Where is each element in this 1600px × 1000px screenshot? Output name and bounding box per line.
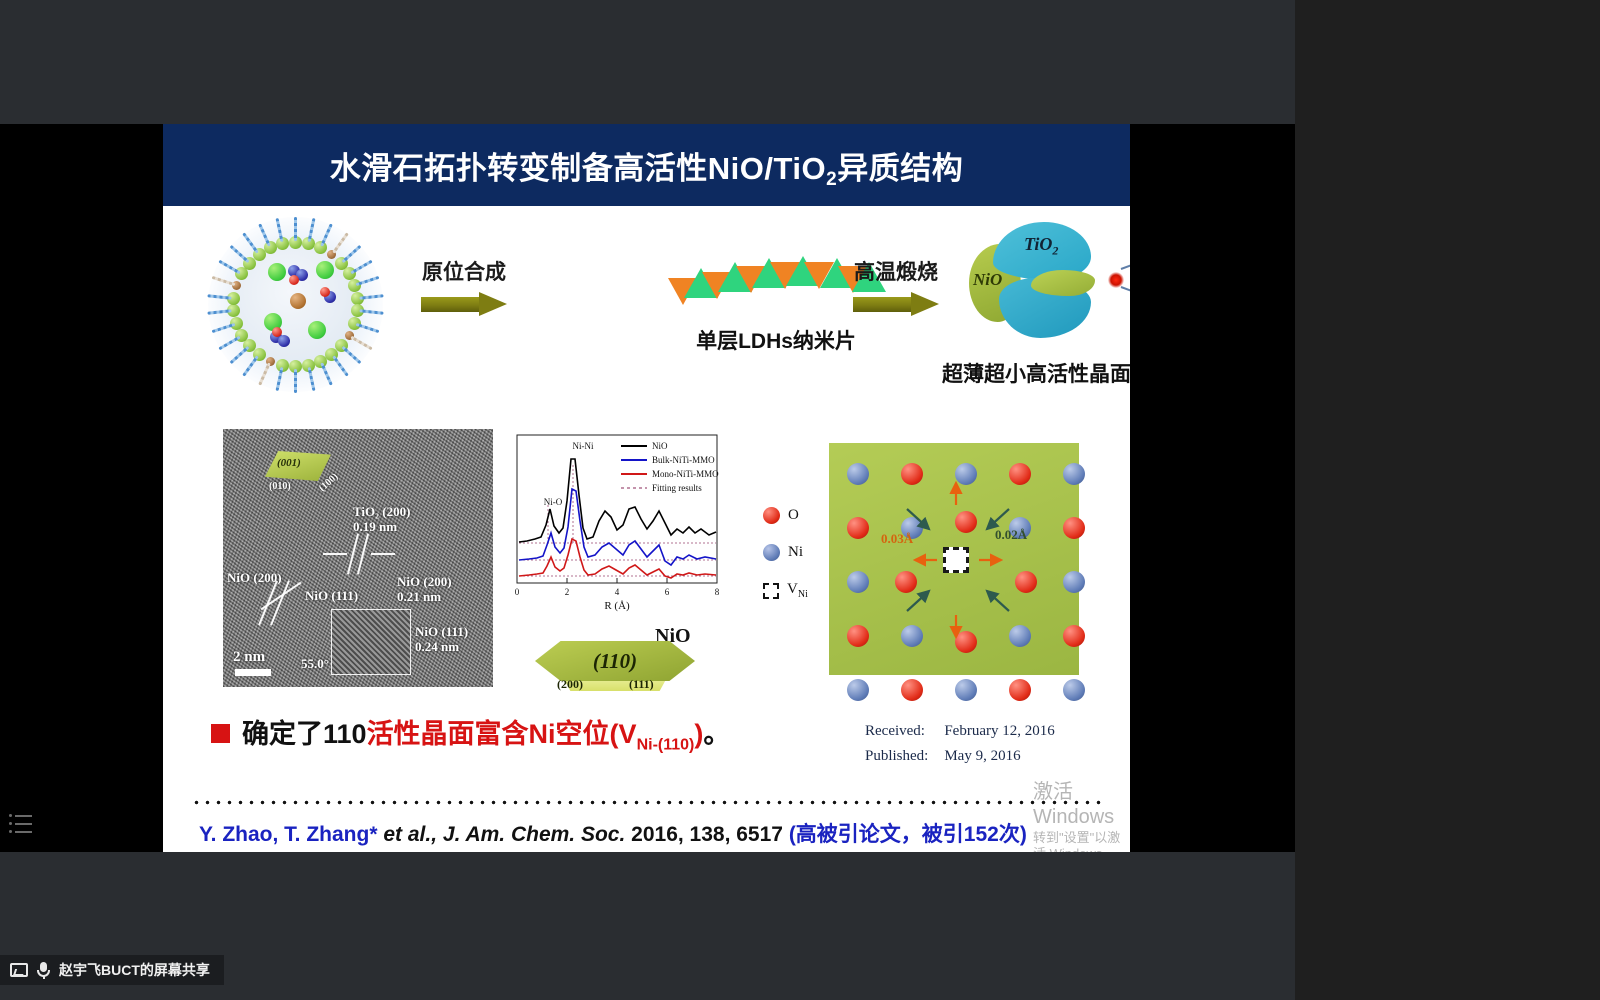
nio-label: NiO bbox=[973, 270, 1002, 290]
mic-icon bbox=[36, 961, 51, 979]
svg-text:Bulk-NiTi-MMO: Bulk-NiTi-MMO bbox=[652, 455, 715, 465]
watermark-line1: 激活 Windows bbox=[1033, 780, 1130, 830]
svg-text:NiO: NiO bbox=[652, 441, 668, 451]
fft-inset bbox=[331, 609, 411, 675]
ni-atom bbox=[847, 679, 869, 701]
ion-brown bbox=[290, 293, 306, 309]
ion-red bbox=[289, 275, 299, 285]
screen-share-icon bbox=[10, 963, 28, 977]
svg-text:Mono-NiTi-MMO: Mono-NiTi-MMO bbox=[652, 469, 719, 479]
presentation-slide: 水滑石拓扑转变制备高活性NiO/TiO2异质结构 bbox=[163, 124, 1130, 852]
participants-list-icon[interactable] bbox=[8, 810, 34, 836]
citation-line: Y. Zhao, T. Zhang* et al., J. Am. Chem. … bbox=[199, 818, 1027, 848]
windows-activation-watermark: 激活 Windows 转到"设置"以激活 Windows。 bbox=[1033, 780, 1130, 852]
svg-text:2: 2 bbox=[565, 587, 570, 597]
arrow-in-situ-synthesis: 原位合成 bbox=[421, 256, 507, 316]
surfactant-tail bbox=[294, 217, 297, 241]
arrow-high-temp-calcination: 高温煅烧 bbox=[853, 256, 939, 316]
ldh-nanosheet bbox=[668, 252, 883, 312]
page-title: 水滑石拓扑转变制备高活性NiO/TiO2异质结构 bbox=[330, 143, 963, 188]
nio-hexagon: (110) (200) (111) bbox=[535, 641, 695, 693]
tem-label-nio111-right: NiO (111)0.24 nm bbox=[415, 625, 468, 655]
scalebar bbox=[235, 669, 271, 676]
vacancy-square-icon bbox=[763, 583, 779, 599]
arrow2-label: 高温煅烧 bbox=[853, 256, 939, 286]
hrtem-image: (001) (010) (100) TiO₂ (200)0.19 nm NiO … bbox=[223, 429, 493, 687]
svg-text:Fitting results: Fitting results bbox=[652, 483, 702, 493]
tem-label-nio200-right: NiO (200)0.21 nm bbox=[397, 575, 452, 605]
received-published-block: Received:February 12, 2016 Published:May… bbox=[863, 718, 1071, 769]
dotted-divider bbox=[191, 800, 1101, 805]
bullet-square-icon bbox=[211, 724, 230, 743]
catalyst-caption: 超薄超小高活性晶面催化剂 bbox=[903, 358, 1130, 388]
hexagon-label-200: (200) bbox=[557, 677, 583, 692]
zoom-line bbox=[1121, 286, 1130, 305]
received-value: February 12, 2016 bbox=[944, 720, 1068, 743]
legend-label-ni: Ni bbox=[788, 544, 803, 561]
ion-red bbox=[272, 327, 282, 337]
zoom-line bbox=[1121, 251, 1130, 270]
published-key: Published: bbox=[865, 745, 942, 768]
svg-text:Ni-Ni: Ni-Ni bbox=[573, 441, 594, 451]
ion-green bbox=[308, 321, 326, 339]
hexagon-label-111: (111) bbox=[629, 677, 654, 692]
ion-green bbox=[316, 261, 334, 279]
ldh-label: 单层LDHs纳米片 bbox=[656, 325, 896, 355]
tem-label-nio111-mid: NiO (111) bbox=[305, 589, 358, 604]
scalebar-label: 2 nm bbox=[233, 649, 265, 666]
shared-screen-stage[interactable]: 水滑石拓扑转变制备高活性NiO/TiO2异质结构 bbox=[0, 0, 1295, 930]
displacement-arrows bbox=[829, 443, 1079, 675]
screen-share-status: 赵宇飞BUCT的屏幕共享 bbox=[0, 955, 224, 985]
tem-angle-label: 55.0° bbox=[301, 657, 329, 672]
hexagon-top-face: (110) bbox=[535, 641, 695, 681]
legend-label-o: O bbox=[788, 507, 799, 524]
ion-green bbox=[268, 263, 286, 281]
share-status-label: 赵宇飞BUCT的屏幕共享 bbox=[59, 960, 210, 980]
arrow1-label: 原位合成 bbox=[421, 256, 507, 286]
ion-red bbox=[320, 287, 330, 297]
svg-text:0: 0 bbox=[515, 587, 520, 597]
ni-atom-icon bbox=[763, 544, 780, 561]
arrow-shape bbox=[421, 292, 507, 316]
micelle-diagram bbox=[208, 217, 383, 392]
screen-root: 水滑石拓扑转变制备高活性NiO/TiO2异质结构 bbox=[0, 0, 1600, 1000]
conclusion-text: 确定了110活性晶面富含Ni空位(VNi-(110))。 bbox=[242, 712, 730, 754]
tio2-facet-chip: (001) bbox=[265, 451, 331, 481]
exafs-svg: 02 468 R (Å) Ni-O Ni-Ni bbox=[503, 429, 728, 619]
ni-atom bbox=[955, 679, 977, 701]
published-value: May 9, 2016 bbox=[944, 745, 1068, 768]
svg-text:4: 4 bbox=[615, 587, 620, 597]
o-atom bbox=[901, 679, 923, 701]
tio2-label: TiO2 bbox=[1024, 234, 1058, 259]
received-key: Received: bbox=[865, 720, 942, 743]
nio-domain bbox=[1031, 270, 1095, 296]
legend-item-ni: Ni bbox=[763, 544, 825, 561]
data-panels: (001) (010) (100) TiO₂ (200)0.19 nm NiO … bbox=[163, 429, 1130, 694]
ni-atom bbox=[1063, 679, 1085, 701]
lattice-grid: 0.03Å 0.02Å bbox=[829, 443, 1079, 675]
arrow-shape bbox=[853, 292, 939, 316]
watermark-line2: 转到"设置"以激活 Windows。 bbox=[1033, 830, 1130, 852]
exafs-chart: 02 468 R (Å) Ni-O Ni-Ni bbox=[503, 429, 728, 619]
legend-item-vacancy: VNi bbox=[763, 581, 825, 600]
surfactant-tail bbox=[294, 369, 297, 393]
ion-blue bbox=[278, 335, 290, 347]
nio-tio2-particle: TiO2 NiO bbox=[969, 222, 1099, 340]
svg-text:6: 6 bbox=[665, 587, 670, 597]
o-atom-icon bbox=[763, 507, 780, 524]
conclusion-line: 确定了110活性晶面富含Ni空位(VNi-(110))。 bbox=[211, 712, 730, 754]
lattice-legend: O Ni VNi bbox=[763, 507, 825, 620]
slide-title-bar: 水滑石拓扑转变制备高活性NiO/TiO2异质结构 bbox=[163, 124, 1130, 206]
legend-label-vacancy: VNi bbox=[787, 581, 808, 600]
tem-label-tio2: TiO₂ (200)0.19 nm bbox=[353, 505, 410, 535]
lattice-diagram: O Ni VNi 0.03Å bbox=[763, 429, 1093, 687]
synthesis-schematic: 原位合成 bbox=[163, 212, 1130, 412]
participants-sidebar: 正在讲话: 赵宇飞BUCT; 赵宇飞BUCT bbox=[1295, 0, 1600, 1000]
svg-text:R (Å): R (Å) bbox=[604, 600, 630, 612]
chip-label-010: (010) bbox=[269, 481, 291, 493]
svg-text:8: 8 bbox=[715, 587, 720, 597]
o-atom bbox=[1009, 679, 1031, 701]
svg-text:Ni-O: Ni-O bbox=[544, 497, 563, 507]
legend-item-o: O bbox=[763, 507, 825, 524]
